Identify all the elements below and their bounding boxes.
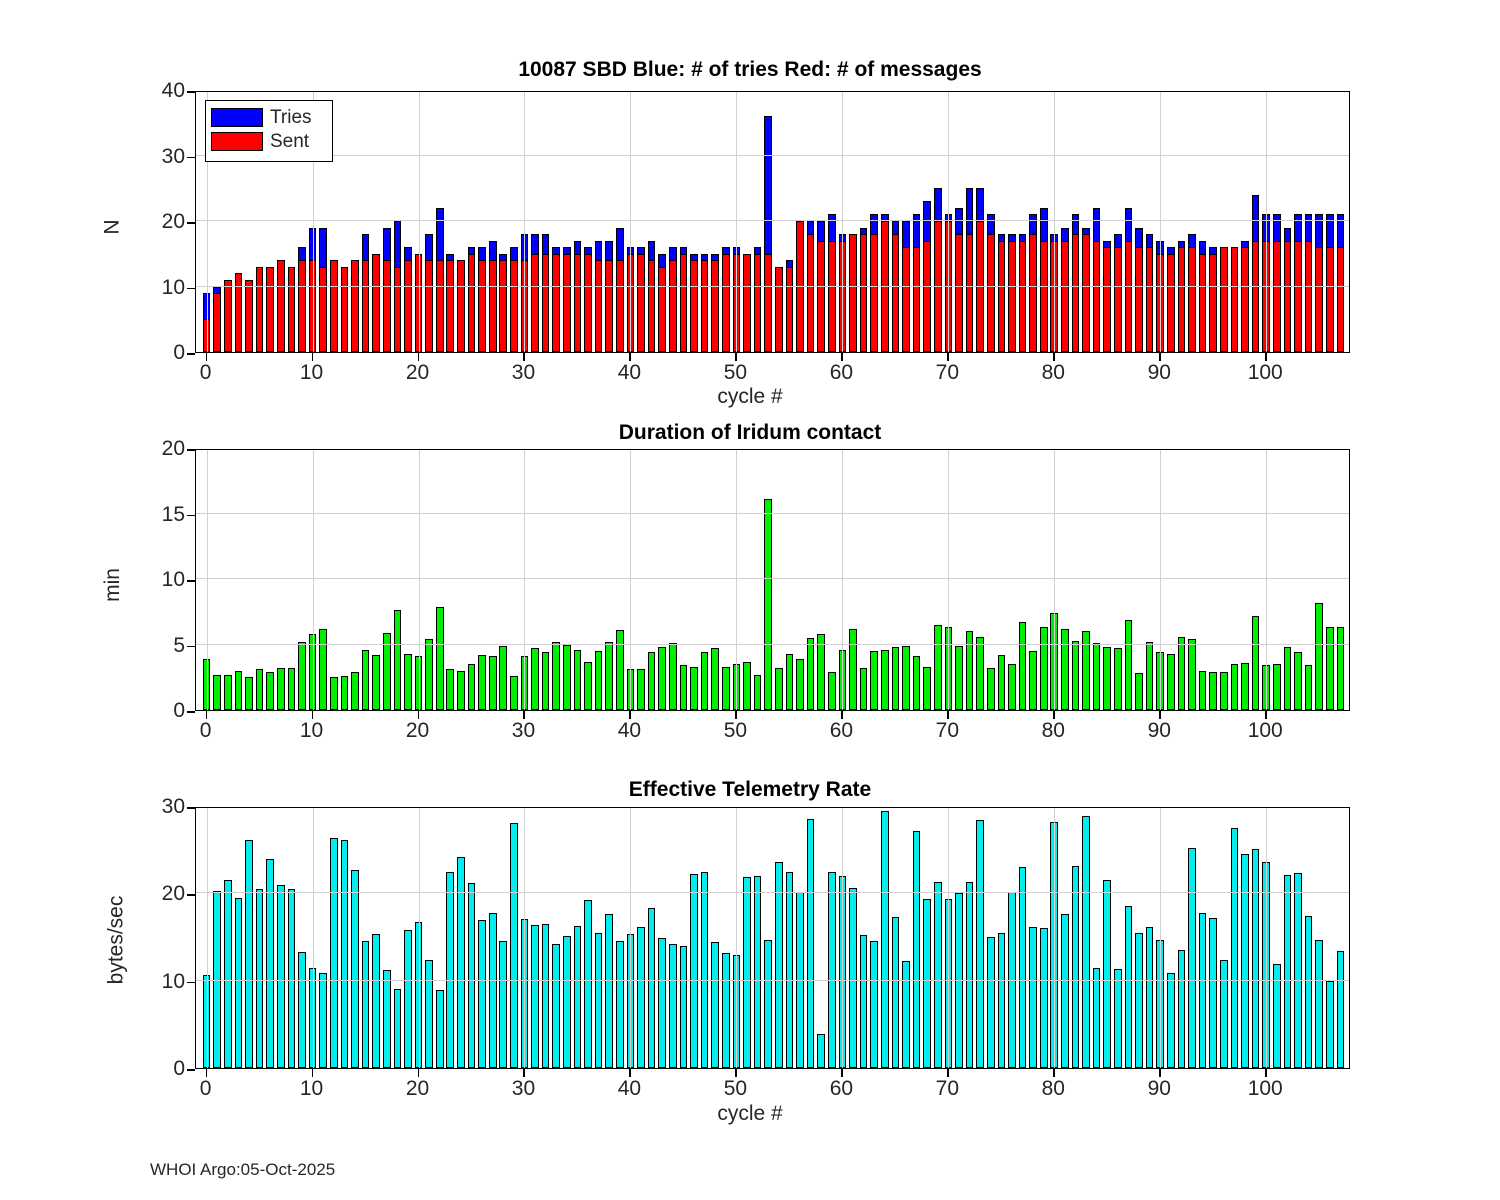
figure-canvas: 10087 SBD Blue: # of tries Red: # of mes…: [0, 0, 1500, 1200]
panel-3-bars: [196, 808, 1349, 1068]
bar-value: [1199, 671, 1207, 710]
bar-value: [224, 675, 232, 710]
bar-value: [616, 630, 624, 710]
bar-value: [457, 857, 465, 1068]
bar-value: [1220, 672, 1228, 710]
y-tick-label: 5: [173, 634, 185, 658]
bar-value: [881, 811, 889, 1068]
bar-value: [1061, 914, 1069, 1068]
panel-3-title: Effective Telemetry Rate: [0, 778, 1500, 802]
bar-value: [605, 914, 613, 1068]
bar-sent: [701, 260, 709, 352]
bar-sent: [870, 234, 878, 352]
bar-value: [870, 651, 878, 710]
legend-entry-tries: Tries: [211, 105, 326, 129]
bar-value: [341, 840, 349, 1068]
y-tick-mark: [187, 288, 195, 290]
gridline-vertical: [1160, 808, 1161, 1068]
panel-1-title: 10087 SBD Blue: # of tries Red: # of mes…: [0, 58, 1500, 82]
bar-value: [658, 938, 666, 1068]
y-tick-mark: [187, 449, 195, 451]
bar-sent: [1008, 241, 1016, 352]
bar-value: [351, 672, 359, 710]
bar-sent: [616, 260, 624, 352]
bar-sent: [1294, 241, 1302, 352]
bar-sent: [341, 267, 349, 352]
bar-sent: [1337, 247, 1345, 352]
x-tick-mark: [841, 1069, 843, 1077]
bar-sent: [1072, 234, 1080, 352]
bar-value: [1305, 916, 1313, 1068]
bar-value: [436, 990, 444, 1068]
x-tick-mark: [1053, 711, 1055, 719]
bar-value: [213, 675, 221, 710]
bar-value: [817, 1034, 825, 1068]
bar-value: [542, 924, 550, 1068]
gridline-vertical: [948, 450, 949, 710]
bar-value: [1103, 647, 1111, 710]
y-tick-mark: [187, 91, 195, 93]
bar-value: [796, 659, 804, 710]
bar-value: [552, 642, 560, 710]
bar-sent: [1125, 241, 1133, 352]
gridline-vertical: [1054, 92, 1055, 352]
bar-value: [489, 656, 497, 710]
bar-sent: [711, 260, 719, 352]
bar-value: [1072, 641, 1080, 710]
bar-value: [341, 676, 349, 710]
bar-sent: [1029, 234, 1037, 352]
bar-value: [394, 610, 402, 710]
bar-value: [1167, 973, 1175, 1068]
bar-value: [1273, 664, 1281, 710]
bar-value: [298, 642, 306, 710]
gridline-vertical: [948, 808, 949, 1068]
gridline-horizontal: [196, 286, 1349, 287]
bar-value: [1082, 816, 1090, 1068]
bar-value: [1135, 933, 1143, 1068]
bar-value: [574, 650, 582, 710]
bar-sent: [1114, 247, 1122, 352]
bar-sent: [998, 241, 1006, 352]
bar-sent: [404, 260, 412, 352]
gridline-horizontal: [196, 644, 1349, 645]
footer-credit: WHOI Argo:05-Oct-2025: [150, 1160, 335, 1180]
bar-value: [616, 941, 624, 1069]
bar-value: [1072, 866, 1080, 1068]
gridline-vertical: [419, 92, 420, 352]
bar-sent: [1135, 247, 1143, 352]
bar-sent: [786, 267, 794, 352]
x-tick-label: 20: [406, 1077, 429, 1101]
bar-sent: [425, 260, 433, 352]
bar-value: [754, 675, 762, 710]
bar-value: [849, 629, 857, 710]
legend-label-tries: Tries: [270, 108, 312, 127]
bar-value: [351, 870, 359, 1068]
bar-sent: [1167, 254, 1175, 352]
gridline-vertical: [842, 92, 843, 352]
gridline-vertical: [313, 450, 314, 710]
panel-1-plot-area: [195, 91, 1350, 353]
bar-value: [764, 940, 772, 1068]
bar-value: [1093, 968, 1101, 1068]
bar-value: [722, 953, 730, 1068]
bar-value: [648, 652, 656, 710]
bar-value: [1326, 627, 1334, 710]
x-tick-label: 70: [936, 1077, 959, 1101]
panel-3-x-axis-label: cycle #: [0, 1102, 1500, 1126]
bar-value: [362, 941, 370, 1068]
x-tick-mark: [1265, 711, 1267, 719]
bar-sent: [574, 254, 582, 352]
bar-sent: [542, 254, 550, 352]
bar-value: [913, 656, 921, 710]
gridline-vertical: [1266, 808, 1267, 1068]
gridline-vertical: [524, 450, 525, 710]
gridline-horizontal: [196, 513, 1349, 514]
bar-value: [881, 650, 889, 710]
legend-swatch-sent: [211, 132, 263, 151]
bar-value: [1305, 665, 1313, 710]
y-tick-label: 0: [173, 1057, 185, 1081]
bar-sent: [1061, 241, 1069, 352]
bar-value: [870, 941, 878, 1068]
bar-value: [595, 933, 603, 1068]
bar-sent: [764, 254, 772, 352]
bar-value: [446, 872, 454, 1069]
bar-value: [648, 908, 656, 1068]
panel-2-bars: [196, 450, 1349, 710]
x-tick-mark: [418, 353, 420, 361]
bar-sent: [457, 260, 465, 352]
bar-value: [1294, 873, 1302, 1068]
bar-value: [934, 625, 942, 710]
bar-value: [987, 937, 995, 1068]
x-tick-mark: [841, 353, 843, 361]
bar-sent: [446, 260, 454, 352]
x-tick-label: 20: [406, 719, 429, 743]
bar-value: [298, 952, 306, 1068]
x-tick-label: 10: [300, 1077, 323, 1101]
bar-value: [499, 941, 507, 1068]
bar-value: [669, 643, 677, 710]
y-tick-mark: [187, 646, 195, 648]
x-tick-mark: [418, 1069, 420, 1077]
bar-value: [446, 669, 454, 710]
bar-sent: [1326, 247, 1334, 352]
bar-value: [584, 900, 592, 1068]
bar-value: [1209, 918, 1217, 1068]
bar-value: [288, 889, 296, 1068]
gridline-vertical: [630, 92, 631, 352]
x-tick-mark: [523, 353, 525, 361]
panel-tries-sent: 10087 SBD Blue: # of tries Red: # of mes…: [0, 50, 1500, 410]
x-tick-mark: [629, 1069, 631, 1077]
bar-sent: [1231, 247, 1239, 352]
bar-value: [828, 672, 836, 710]
x-tick-label: 40: [618, 1077, 641, 1101]
bar-value: [701, 872, 709, 1068]
bar-value: [1231, 664, 1239, 710]
bar-value: [245, 840, 253, 1068]
bar-sent: [288, 267, 296, 352]
bar-sent: [1305, 241, 1313, 352]
bar-value: [224, 880, 232, 1068]
gridline-vertical: [842, 450, 843, 710]
bar-value: [701, 652, 709, 710]
y-tick-label: 0: [173, 699, 185, 723]
bar-value: [1284, 647, 1292, 710]
bar-sent: [552, 254, 560, 352]
bar-value: [690, 874, 698, 1068]
gridline-vertical: [524, 808, 525, 1068]
x-tick-mark: [1053, 353, 1055, 361]
bar-value: [563, 645, 571, 711]
bar-value: [478, 920, 486, 1068]
bar-sent: [245, 280, 253, 352]
gridline-vertical: [207, 450, 208, 710]
x-tick-label: 10: [300, 719, 323, 743]
gridline-vertical: [1266, 450, 1267, 710]
bar-sent: [892, 234, 900, 352]
bar-value: [330, 838, 338, 1068]
bar-value: [849, 888, 857, 1068]
bar-value: [998, 933, 1006, 1068]
x-tick-label: 90: [1148, 1077, 1171, 1101]
bar-value: [1209, 672, 1217, 710]
y-tick-mark: [187, 982, 195, 984]
bar-value: [1241, 854, 1249, 1068]
bar-sent: [531, 254, 539, 352]
bar-sent: [1315, 247, 1323, 352]
bar-value: [1029, 651, 1037, 710]
bar-value: [266, 859, 274, 1068]
bar-value: [1008, 664, 1016, 710]
panel-1-bars: [196, 92, 1349, 352]
bar-value: [245, 677, 253, 710]
bar-value: [457, 671, 465, 710]
y-tick-mark: [187, 580, 195, 582]
bar-value: [775, 668, 783, 710]
x-tick-label: 90: [1148, 361, 1171, 385]
bar-value: [489, 913, 497, 1068]
bar-value: [330, 677, 338, 710]
bar-sent: [934, 221, 942, 352]
bar-sent: [1199, 254, 1207, 352]
gridline-horizontal: [196, 980, 1349, 981]
bar-value: [404, 930, 412, 1068]
bar-value: [722, 667, 730, 710]
x-tick-label: 80: [1042, 361, 1065, 385]
gridline-vertical: [736, 808, 737, 1068]
gridline-horizontal: [196, 578, 1349, 579]
bar-value: [743, 877, 751, 1068]
bar-sent: [1093, 241, 1101, 352]
bar-sent: [277, 260, 285, 352]
bar-value: [1167, 654, 1175, 710]
gridline-horizontal: [196, 892, 1349, 893]
panel-rate: Effective Telemetry Rate 0102030 0102030…: [0, 765, 1500, 1145]
bar-value: [1029, 927, 1037, 1068]
bar-value: [1337, 951, 1345, 1068]
x-tick-label: 80: [1042, 719, 1065, 743]
x-tick-mark: [1053, 1069, 1055, 1077]
bar-value: [1103, 880, 1111, 1068]
bar-value: [425, 960, 433, 1068]
bar-sent: [849, 234, 857, 352]
bar-sent: [563, 254, 571, 352]
bar-value: [1146, 642, 1154, 710]
bar-value: [584, 662, 592, 710]
gridline-vertical: [630, 808, 631, 1068]
bar-sent: [499, 260, 507, 352]
y-tick-label: 10: [162, 568, 185, 592]
gridline-vertical: [842, 808, 843, 1068]
bar-value: [1284, 875, 1292, 1068]
bar-value: [1019, 622, 1027, 710]
x-tick-mark: [947, 711, 949, 719]
bar-value: [1093, 643, 1101, 710]
y-tick-mark: [187, 894, 195, 896]
y-tick-label: 30: [162, 795, 185, 819]
bar-value: [711, 648, 719, 710]
x-tick-mark: [947, 1069, 949, 1077]
bar-sent: [1284, 241, 1292, 352]
bar-sent: [966, 234, 974, 352]
bar-value: [362, 650, 370, 710]
bar-value: [1326, 981, 1334, 1068]
bar-value: [1315, 940, 1323, 1068]
bar-sent: [722, 254, 730, 352]
bar-value: [542, 652, 550, 710]
x-tick-label: 50: [724, 361, 747, 385]
bar-sent: [743, 254, 751, 352]
bar-value: [468, 664, 476, 710]
bar-value: [499, 646, 507, 710]
bar-sent: [754, 254, 762, 352]
x-tick-label: 70: [936, 361, 959, 385]
y-tick-label: 15: [162, 503, 185, 527]
bar-value: [764, 499, 772, 710]
bar-sent: [1220, 247, 1228, 352]
bar-sent: [680, 254, 688, 352]
bar-sent: [319, 267, 327, 352]
bar-value: [574, 926, 582, 1068]
x-tick-mark: [735, 711, 737, 719]
x-tick-mark: [1159, 711, 1161, 719]
y-tick-label: 30: [162, 145, 185, 169]
bar-sent: [266, 267, 274, 352]
x-tick-mark: [206, 353, 208, 361]
bar-value: [1294, 652, 1302, 710]
bar-value: [468, 883, 476, 1068]
y-tick-mark: [187, 353, 195, 355]
bar-sent: [256, 267, 264, 352]
bar-value: [1231, 828, 1239, 1068]
bar-sent: [775, 267, 783, 352]
bar-value: [277, 885, 285, 1068]
bar-sent: [1178, 247, 1186, 352]
bar-sent: [913, 247, 921, 352]
x-tick-label: 50: [724, 719, 747, 743]
x-tick-label: 100: [1248, 361, 1283, 385]
gridline-vertical: [524, 92, 525, 352]
bar-value: [1040, 627, 1048, 710]
bar-value: [743, 662, 751, 710]
bar-sent: [468, 254, 476, 352]
y-tick-mark: [187, 711, 195, 713]
y-tick-mark: [187, 1069, 195, 1071]
bar-value: [1146, 927, 1154, 1068]
bar-sent: [902, 247, 910, 352]
legend-entry-sent: Sent: [211, 129, 326, 153]
bar-value: [902, 961, 910, 1068]
legend-swatch-tries: [211, 108, 263, 127]
x-tick-mark: [841, 711, 843, 719]
gridline-vertical: [207, 808, 208, 1068]
bar-value: [372, 934, 380, 1068]
x-tick-label: 0: [200, 1077, 212, 1101]
y-tick-mark: [187, 807, 195, 809]
bar-value: [531, 648, 539, 710]
bar-sent: [648, 260, 656, 352]
bar-value: [436, 607, 444, 710]
bar-value: [478, 655, 486, 710]
bar-sent: [605, 260, 613, 352]
gridline-vertical: [1054, 808, 1055, 1068]
bar-sent: [1040, 241, 1048, 352]
gridline-vertical: [419, 450, 420, 710]
bar-value: [1252, 616, 1260, 710]
bar-sent: [1103, 247, 1111, 352]
bar-value: [563, 936, 571, 1068]
bar-sent: [1019, 241, 1027, 352]
bar-sent: [224, 280, 232, 352]
x-tick-mark: [735, 353, 737, 361]
bar-value: [680, 946, 688, 1068]
panel-1-legend: Tries Sent: [205, 100, 333, 162]
bar-value: [1337, 627, 1345, 710]
panel-3-y-axis-label: bytes/sec: [104, 896, 128, 985]
bar-value: [669, 944, 677, 1068]
panel-1-y-axis-label: N: [101, 219, 125, 234]
x-tick-label: 80: [1042, 1077, 1065, 1101]
bar-value: [1125, 906, 1133, 1068]
bar-sent: [828, 241, 836, 352]
bar-value: [531, 925, 539, 1068]
gridline-vertical: [736, 450, 737, 710]
bar-value: [1252, 849, 1260, 1068]
bar-value: [1178, 637, 1186, 710]
bar-value: [987, 668, 995, 710]
x-tick-mark: [1265, 353, 1267, 361]
bar-sent: [817, 241, 825, 352]
x-tick-label: 10: [300, 361, 323, 385]
bar-value: [786, 654, 794, 710]
bar-value: [892, 647, 900, 710]
y-tick-label: 10: [162, 276, 185, 300]
bar-value: [510, 676, 518, 710]
x-tick-label: 0: [200, 719, 212, 743]
bar-value: [754, 876, 762, 1068]
x-tick-mark: [206, 1069, 208, 1077]
bar-value: [1040, 928, 1048, 1068]
gridline-vertical: [1054, 450, 1055, 710]
bar-sent: [489, 260, 497, 352]
y-tick-label: 0: [173, 341, 185, 365]
panel-duration: Duration of Iridum contact 05101520 0102…: [0, 415, 1500, 755]
